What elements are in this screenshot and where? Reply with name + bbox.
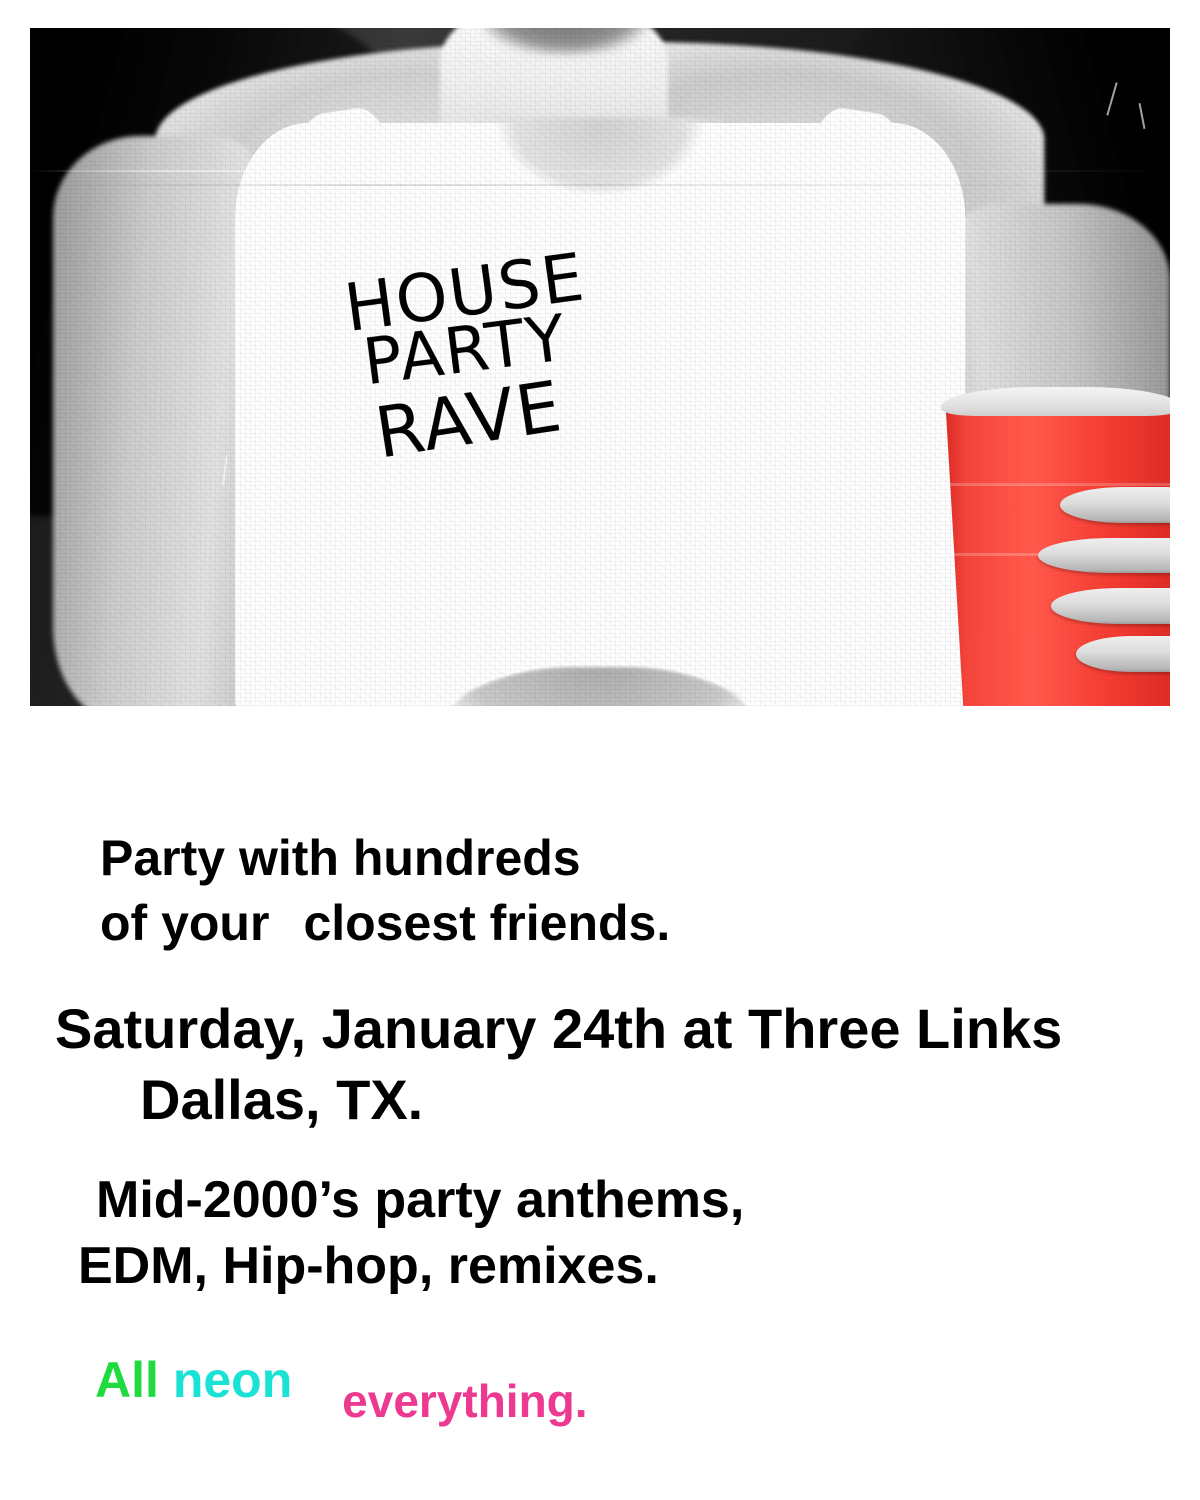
neon-word-everything: everything.: [342, 1374, 587, 1428]
music-line-1: Mid-2000’s party anthems,: [78, 1168, 744, 1234]
neon-word-neon: neon: [173, 1352, 292, 1408]
flyer-photo: HOUSE PARTY RAVE: [30, 28, 1170, 706]
finger: [1038, 538, 1170, 574]
finger: [1076, 636, 1170, 672]
music-line-2: EDM, Hip-hop, remixes.: [78, 1234, 744, 1300]
shirt-handwritten-text: HOUSE PARTY RAVE: [336, 232, 910, 438]
red-solo-cup: [931, 387, 1170, 706]
tank-neckline: [476, 117, 724, 212]
finger: [1051, 588, 1170, 624]
invite-line-2-b: closest friends.: [303, 895, 670, 951]
invite-block: Party with hundreds of yourclosest frien…: [100, 826, 670, 956]
finger: [1060, 487, 1170, 523]
invite-line-2-a: of your: [100, 895, 269, 951]
when-line-1: Saturday, January 24th at Three Links: [55, 994, 1062, 1065]
invite-line-2: of yourclosest friends.: [100, 891, 670, 956]
when-line-2: Dallas, TX.: [55, 1065, 1062, 1136]
neon-word-all: All: [95, 1352, 159, 1408]
when-block: Saturday, January 24th at Three Links Da…: [55, 994, 1062, 1135]
invite-line-1: Party with hundreds: [100, 826, 670, 891]
neon-block: All neon everything.: [95, 1351, 588, 1409]
hand-fingers: [1026, 483, 1170, 693]
cup-rim: [941, 387, 1170, 416]
music-block: Mid-2000’s party anthems, EDM, Hip-hop, …: [78, 1168, 744, 1299]
